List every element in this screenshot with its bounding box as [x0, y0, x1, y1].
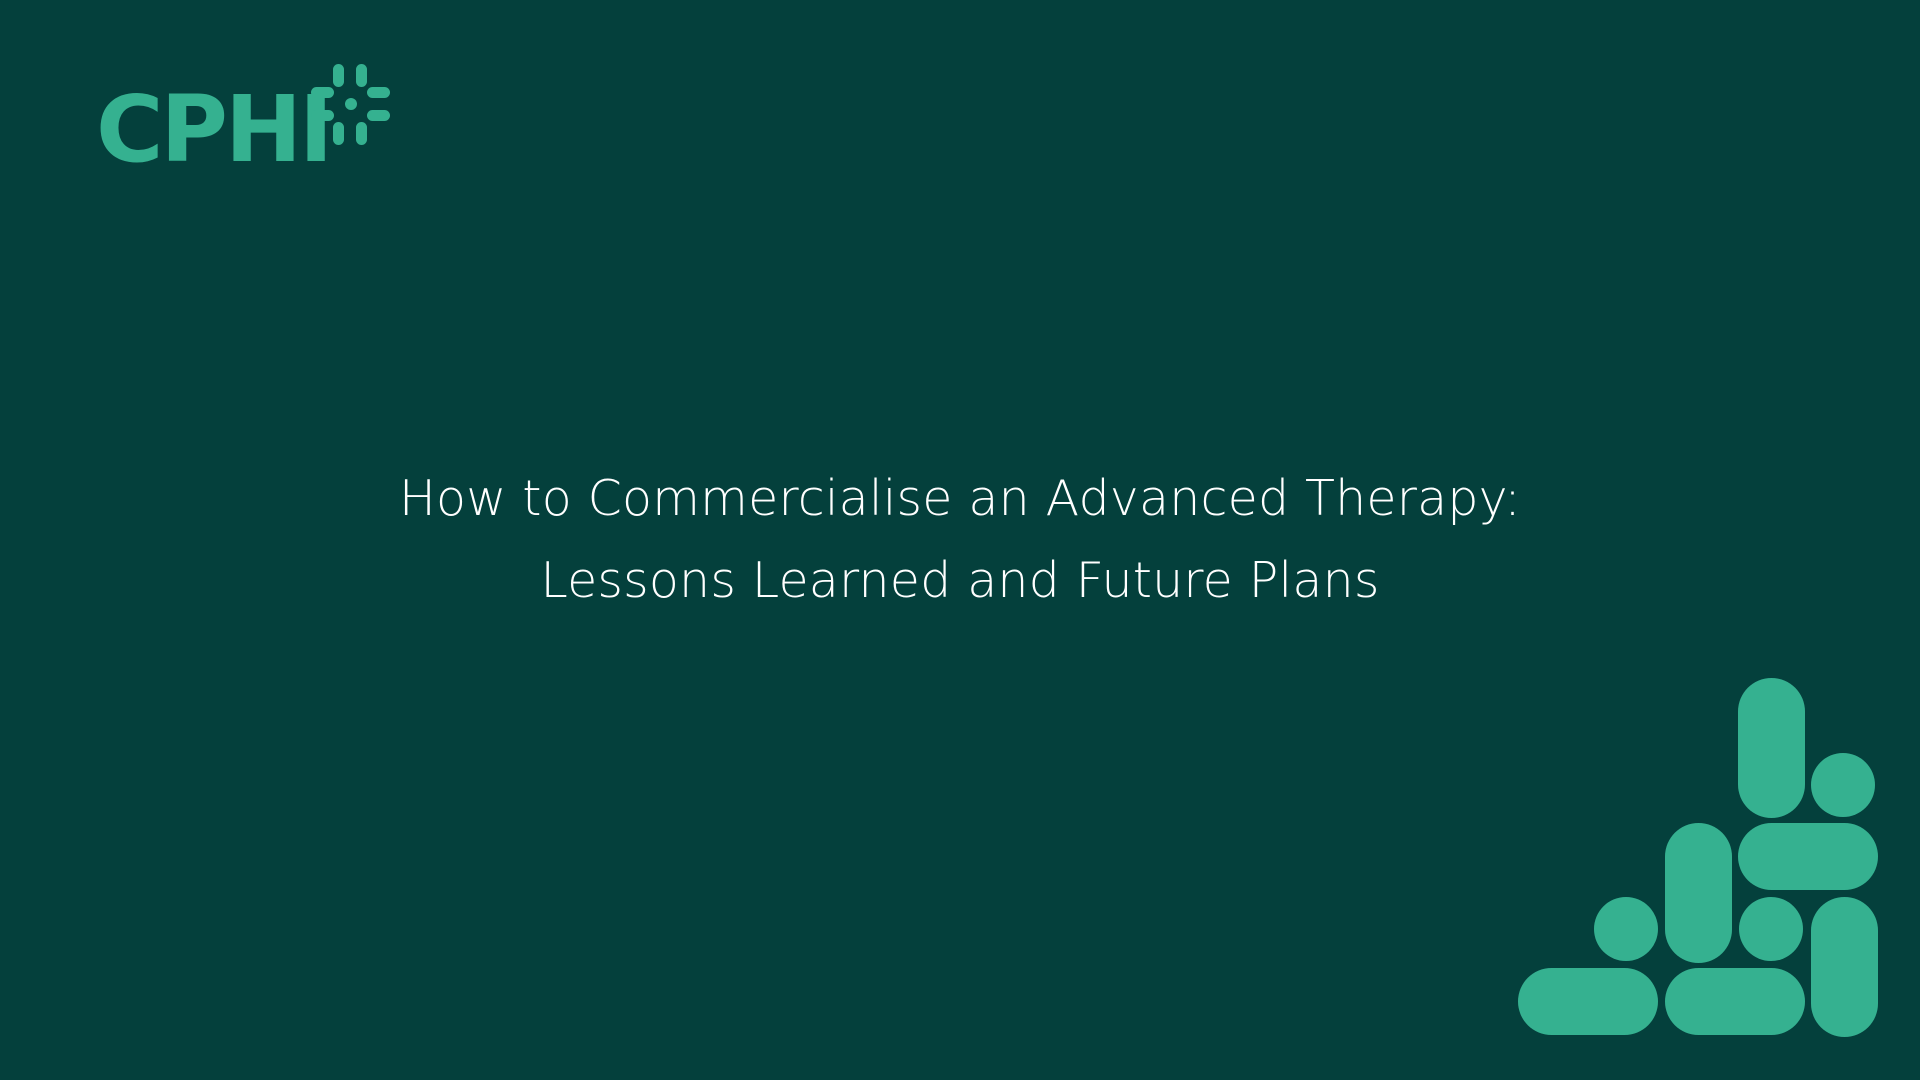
sunburst-pill-bottom-left-icon: [333, 122, 344, 145]
cphi-wordmark: CPHI: [96, 84, 330, 176]
sunburst-pill-right-lower-icon: [367, 110, 390, 121]
deco-circle-lower-left: [1594, 897, 1658, 961]
sunburst-center-dot-icon: [345, 98, 357, 110]
decorative-block-pattern: [1518, 678, 1878, 1038]
sunburst-pill-bottom-right-icon: [356, 122, 367, 145]
sunburst-pill-left-lower-icon: [311, 110, 334, 121]
slide-canvas: CPHI How to Commercialise an Advanced Th…: [0, 0, 1920, 1080]
deco-pill-vertical-middle-left: [1665, 823, 1732, 963]
deco-pill-horizontal-middle: [1738, 823, 1878, 890]
deco-pill-horizontal-bottom-left: [1518, 968, 1658, 1035]
sunburst-pill-top-left-icon: [333, 64, 344, 87]
sunburst-pill-right-upper-icon: [367, 87, 390, 98]
sunburst-pill-top-right-icon: [356, 64, 367, 87]
slide-title-line-1: How to Commercialise an Advanced Therapy…: [399, 458, 1521, 540]
slide-title-line-2: Lessons Learned and Future Plans: [540, 540, 1379, 622]
cphi-logo[interactable]: CPHI: [96, 58, 406, 178]
cphi-sunburst-icon: [311, 64, 393, 146]
sunburst-pill-left-upper-icon: [311, 87, 334, 98]
deco-circle-lower-middle: [1739, 897, 1803, 961]
deco-pill-vertical-top: [1738, 678, 1805, 818]
deco-circle-top-right: [1811, 753, 1875, 817]
deco-pill-horizontal-bottom-middle: [1665, 968, 1805, 1035]
deco-pill-vertical-lower-right: [1811, 897, 1878, 1037]
